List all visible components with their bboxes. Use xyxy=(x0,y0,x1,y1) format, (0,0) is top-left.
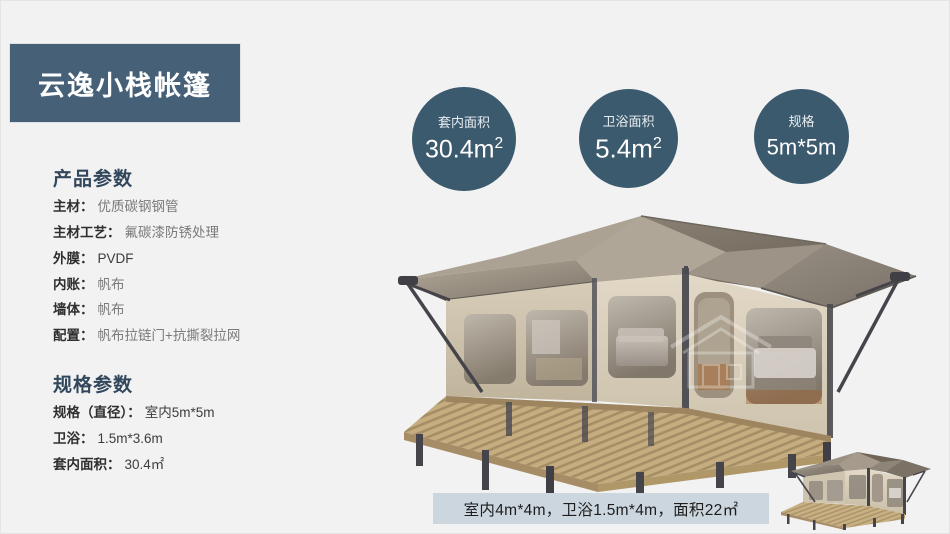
caption-band: 室内4m*4m，卫浴1.5m*4m，面积22㎡ xyxy=(433,493,769,524)
spec-row: 主材工艺： 氟碳漆防锈处理 xyxy=(53,226,383,241)
spec-label: 墙体： xyxy=(53,303,94,318)
product-params-heading: 产品参数 xyxy=(53,164,383,191)
badge-label: 规格 xyxy=(788,115,814,128)
page-title: 云逸小栈帐篷 xyxy=(38,64,212,103)
product-params-panel: 产品参数 主材： 优质碳钢钢管 主材工艺： 氟碳漆防锈处理 外膜： PVDF 内… xyxy=(53,164,383,366)
product-params-list: 主材： 优质碳钢钢管 主材工艺： 氟碳漆防锈处理 外膜： PVDF 内账： 帆布… xyxy=(53,200,383,344)
spec-row: 墙体： 帆布 xyxy=(53,303,383,318)
spec-value: 1.5m*3.6m xyxy=(98,432,163,447)
spec-params-heading: 规格参数 xyxy=(53,370,383,397)
spec-value: 帆布 xyxy=(98,303,125,318)
slide-page: 云逸小栈帐篷 产品参数 主材： 优质碳钢钢管 主材工艺： 氟碳漆防锈处理 外膜：… xyxy=(0,0,950,534)
spec-label: 主材： xyxy=(53,200,94,215)
badge-dimensions: 规格 5m*5m xyxy=(754,89,849,184)
spec-value: 帆布 xyxy=(98,278,125,293)
badge-value: 5.4m2 xyxy=(595,135,662,162)
spec-value: 优质碳钢钢管 xyxy=(98,200,179,215)
spec-value: 30.4㎡ xyxy=(125,458,165,473)
spec-row: 卫浴： 1.5m*3.6m xyxy=(53,432,383,447)
spec-params-panel: 规格参数 规格（直径）： 室内5m*5m 卫浴： 1.5m*3.6m 套内面积：… xyxy=(53,370,383,495)
spec-label: 内账： xyxy=(53,278,94,293)
spec-value: 帆布拉链门+抗撕裂拉网 xyxy=(98,329,241,344)
badge-bathroom-area: 卫浴面积 5.4m2 xyxy=(579,89,678,188)
badge-label: 卫浴面积 xyxy=(602,115,654,128)
badge-interior-area: 套内面积 30.4m2 xyxy=(412,87,516,191)
spec-value: PVDF xyxy=(98,252,134,267)
badge-label: 套内面积 xyxy=(438,116,490,129)
spec-value: 室内5m*5m xyxy=(145,406,215,421)
spec-row: 外膜： PVDF xyxy=(53,252,383,267)
spec-row: 主材： 优质碳钢钢管 xyxy=(53,200,383,215)
spec-label: 配置： xyxy=(53,329,94,344)
spec-row: 配置： 帆布拉链门+抗撕裂拉网 xyxy=(53,329,383,344)
spec-params-list: 规格（直径）： 室内5m*5m 卫浴： 1.5m*3.6m 套内面积： 30.4… xyxy=(53,406,383,473)
safari-tent-thumbnail xyxy=(773,444,943,530)
spec-label: 卫浴： xyxy=(53,432,94,447)
badge-value: 5m*5m xyxy=(767,135,837,158)
spec-row: 规格（直径）： 室内5m*5m xyxy=(53,406,383,421)
caption-text: 室内4m*4m，卫浴1.5m*4m，面积22㎡ xyxy=(464,498,739,520)
spec-label: 主材工艺： xyxy=(53,226,121,241)
badge-value: 30.4m2 xyxy=(425,136,503,162)
spec-row: 内账： 帆布 xyxy=(53,278,383,293)
spec-label: 套内面积： xyxy=(53,458,121,473)
spec-label: 规格（直径）： xyxy=(53,406,141,421)
title-banner: 云逸小栈帐篷 xyxy=(9,43,241,123)
spec-label: 外膜： xyxy=(53,252,94,267)
spec-row: 套内面积： 30.4㎡ xyxy=(53,458,383,473)
spec-value: 氟碳漆防锈处理 xyxy=(125,226,220,241)
tent-thumbnail-svg xyxy=(773,444,943,530)
